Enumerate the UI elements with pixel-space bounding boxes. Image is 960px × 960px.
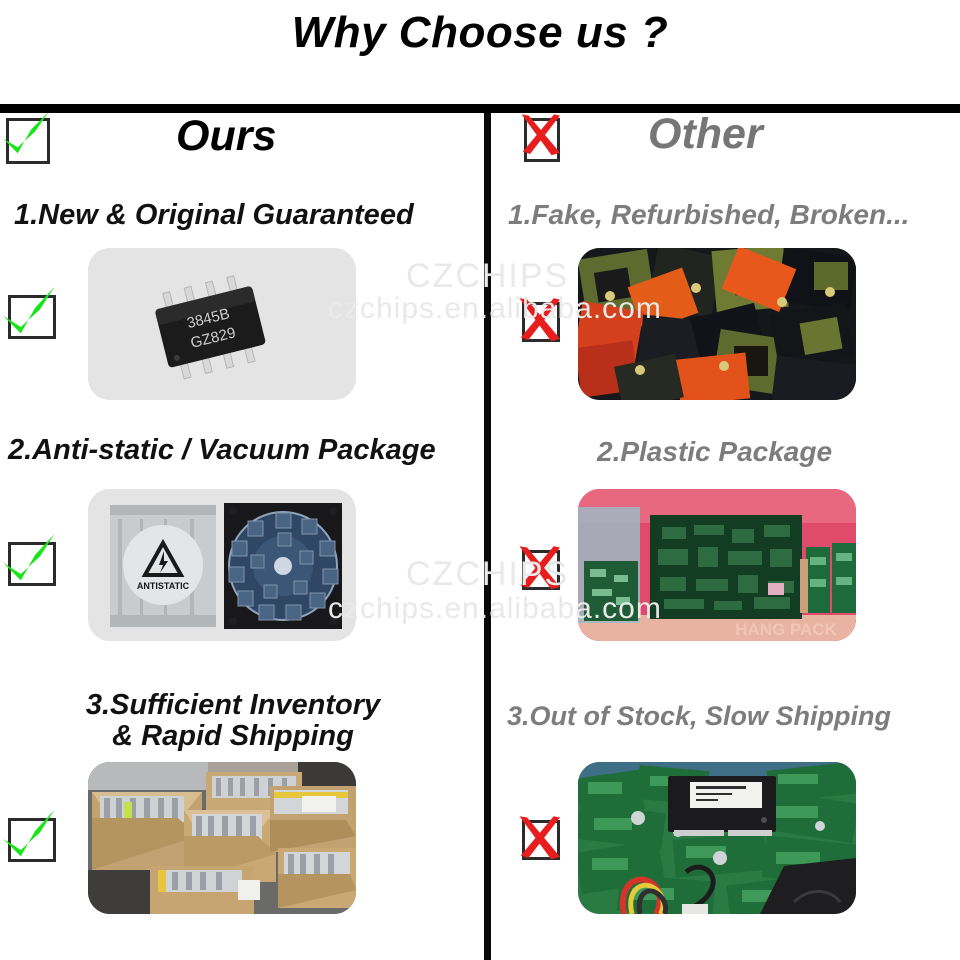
check-glyph bbox=[8, 295, 56, 343]
plastic-bag-label: HANG PACK bbox=[735, 620, 837, 639]
column-header-other: Other bbox=[648, 110, 763, 159]
photo-antistatic-bag-and-reel: ANTISTATIC bbox=[88, 489, 356, 641]
ours-caption-3-line1: 3.Sufficient Inventory bbox=[68, 690, 398, 721]
ours-check-icon-3 bbox=[8, 818, 56, 862]
column-divider-vertical bbox=[484, 113, 491, 960]
check-glyph bbox=[8, 818, 56, 866]
ours-check-icon-1 bbox=[8, 295, 56, 339]
other-cross-icon-3 bbox=[522, 820, 560, 860]
cross-glyph bbox=[522, 302, 560, 340]
cross-glyph bbox=[522, 820, 560, 858]
ours-caption-2: 2.Anti-static / Vacuum Package bbox=[8, 435, 436, 466]
check-glyph bbox=[6, 118, 50, 162]
antistatic-bag-label: ANTISTATIC bbox=[137, 581, 190, 591]
ours-check-icon-2 bbox=[8, 542, 56, 586]
column-header-ours: Ours bbox=[176, 112, 276, 161]
why-choose-us-comparison-graphic: Why Choose us ? Ours Other 1.New & Origi… bbox=[0, 0, 960, 960]
other-caption-3: 3.Out of Stock, Slow Shipping bbox=[507, 702, 891, 731]
other-cross-icon-1 bbox=[522, 302, 560, 342]
other-caption-1: 1.Fake, Refurbished, Broken... bbox=[508, 200, 909, 230]
ours-caption-3: 3.Sufficient Inventory & Rapid Shipping bbox=[68, 690, 398, 751]
ours-caption-1: 1.New & Original Guaranteed bbox=[14, 200, 414, 231]
photo-pink-plastic-bag-pcbs: HANG PACK bbox=[578, 489, 856, 641]
photo-green-pcb-scrap-heap bbox=[578, 762, 856, 914]
photo-sop8-chip: 3845B GZ829 bbox=[88, 248, 356, 400]
other-caption-2: 2.Plastic Package bbox=[597, 437, 832, 467]
cross-glyph bbox=[524, 118, 560, 154]
photo-cartons-with-antistatic-bags bbox=[88, 762, 356, 914]
header-check-icon bbox=[6, 118, 50, 164]
photo-scrap-chips-pile bbox=[578, 248, 856, 400]
page-title: Why Choose us ? bbox=[0, 8, 960, 58]
check-glyph bbox=[8, 542, 56, 590]
header-divider-horizontal bbox=[0, 104, 960, 113]
ours-caption-3-line2: & Rapid Shipping bbox=[68, 721, 398, 752]
header-cross-icon bbox=[524, 118, 560, 162]
cross-glyph bbox=[522, 550, 560, 588]
other-cross-icon-2 bbox=[522, 550, 560, 590]
